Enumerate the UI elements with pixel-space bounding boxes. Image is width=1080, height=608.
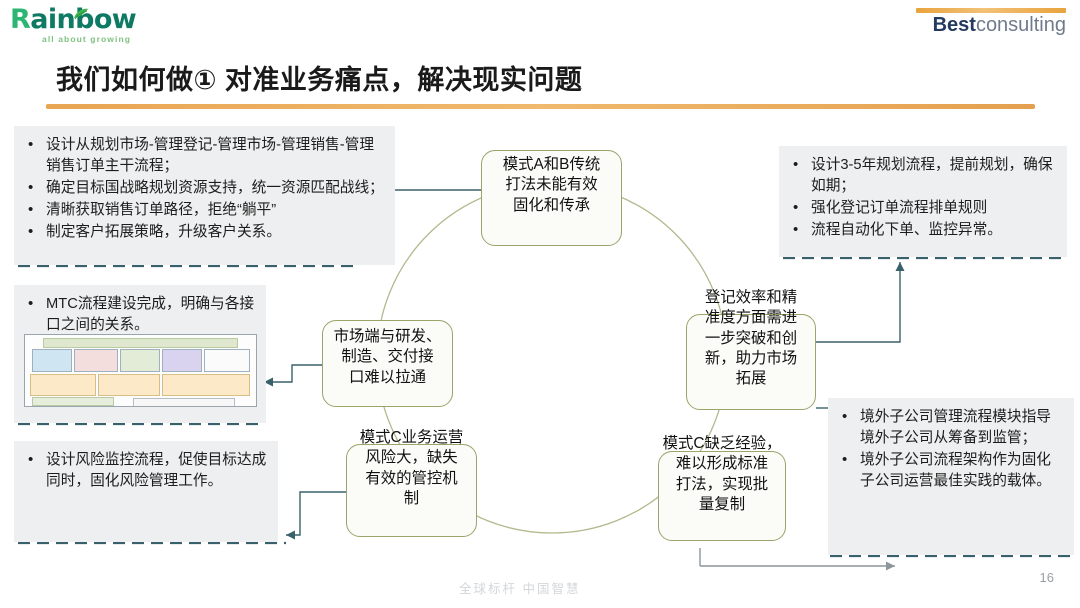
- pain-point-node-left-label: 市场端与研发、 制造、交付接 口难以拉通: [315, 327, 460, 388]
- thumbnail-support-lane-1: [30, 374, 96, 396]
- thumbnail-footer-band: [32, 397, 114, 406]
- slide-canvas: Rainbow all about growing Bestconsulting…: [0, 0, 1080, 608]
- insight-box-bottom-right: 境外子公司管理流程模块指导境外子公司从筹备到监管； 境外子公司流程架构作为固化子…: [828, 398, 1074, 555]
- best-consulting-logo: Bestconsulting: [898, 8, 1066, 42]
- insight-box-top-left: 设计从规划市场-管理登记-管理市场-管理销售-管理销售订单主干流程； 确定目标国…: [14, 126, 395, 265]
- thumbnail-lane-1: [32, 349, 72, 372]
- insight-list-top-right: 设计3-5年规划流程，提前规划，确保如期； 强化登记订单流程排单规则 流程自动化…: [787, 155, 1057, 241]
- list-item: 设计从规划市场-管理登记-管理市场-管理销售-管理销售订单主干流程；: [22, 135, 385, 177]
- logo-gold-bar: [916, 8, 1066, 13]
- rainbow-logo-tagline: all about growing: [42, 34, 230, 44]
- rainbow-logo-initial: R: [10, 4, 30, 35]
- logo-consulting-text: consulting: [976, 14, 1066, 36]
- page-title: 我们如何做① 对准业务痛点，解决现实问题: [56, 58, 582, 97]
- rainbow-logo-wordmark: Rainbow: [10, 6, 230, 33]
- page-number: 16: [1040, 570, 1054, 585]
- thumbnail-lane-5: [204, 349, 250, 372]
- list-item: MTC流程建设完成，明确与各接口之间的关系。: [22, 294, 256, 336]
- insight-box-bottom-left: 设计风险监控流程，促使目标达成同时，固化风险管理工作。: [14, 441, 278, 542]
- thumbnail-lane-4: [162, 349, 202, 372]
- footer-slogan: 全球标杆 中国智慧: [459, 578, 580, 597]
- list-item: 制定客户拓展策略，升级客户关系。: [22, 222, 385, 243]
- thumbnail-lane-2: [74, 349, 118, 372]
- pain-point-node-bottom-left-label: 模式C业务运营 风险大，缺失 有效的管控机 制: [340, 428, 483, 509]
- list-item: 确定目标国战略规划资源支持，统一资源匹配战线；: [22, 178, 385, 199]
- list-item: 强化登记订单流程排单规则: [787, 198, 1057, 219]
- insight-list-bottom-right: 境外子公司管理流程模块指导境外子公司从筹备到监管； 境外子公司流程架构作为固化子…: [836, 407, 1064, 492]
- list-item: 流程自动化下单、监控异常。: [787, 220, 1057, 241]
- title-divider: [46, 104, 1035, 109]
- pain-point-node-top-label: 模式A和B传统 打法未能有效 固化和传承: [471, 155, 632, 216]
- thumbnail-support-lane-2: [98, 374, 160, 396]
- thumbnail-support-lane-3: [162, 374, 250, 396]
- best-consulting-wordmark: Bestconsulting: [898, 15, 1066, 35]
- pain-point-node-right-label: 登记效率和精 准度方面需进 一步突破和创 新，助力市场 拓展: [678, 288, 824, 390]
- thumbnail-lane-3: [120, 349, 160, 372]
- list-item: 设计3-5年规划流程，提前规划，确保如期；: [787, 155, 1057, 197]
- insight-box-top-right: 设计3-5年规划流程，提前规划，确保如期； 强化登记订单流程排单规则 流程自动化…: [779, 146, 1067, 257]
- rainbow-logo: Rainbow all about growing: [10, 6, 230, 42]
- thumbnail-footer-box: [133, 398, 235, 407]
- mtc-process-diagram-thumbnail: [24, 334, 257, 407]
- pain-point-node-bottom-right-label: 模式C缺乏经验， 难以形成标准 打法，实现批 量复制: [646, 434, 798, 515]
- logo-best-text: Best: [933, 14, 976, 36]
- thumbnail-header-band: [43, 338, 238, 348]
- list-item: 清晰获取销售订单路径，拒绝“躺平”: [22, 200, 385, 221]
- list-item: 设计风险监控流程，促使目标达成同时，固化风险管理工作。: [22, 450, 268, 492]
- insight-list-bottom-left: 设计风险监控流程，促使目标达成同时，固化风险管理工作。: [22, 450, 268, 492]
- leaf-icon: [73, 8, 89, 20]
- insight-list-top-left: 设计从规划市场-管理登记-管理市场-管理销售-管理销售订单主干流程； 确定目标国…: [22, 135, 385, 242]
- list-item: 境外子公司管理流程模块指导境外子公司从筹备到监管；: [836, 407, 1064, 449]
- list-item: 境外子公司流程架构作为固化子公司运营最佳实践的载体。: [836, 450, 1064, 492]
- insight-list-middle-left: MTC流程建设完成，明确与各接口之间的关系。: [22, 294, 256, 336]
